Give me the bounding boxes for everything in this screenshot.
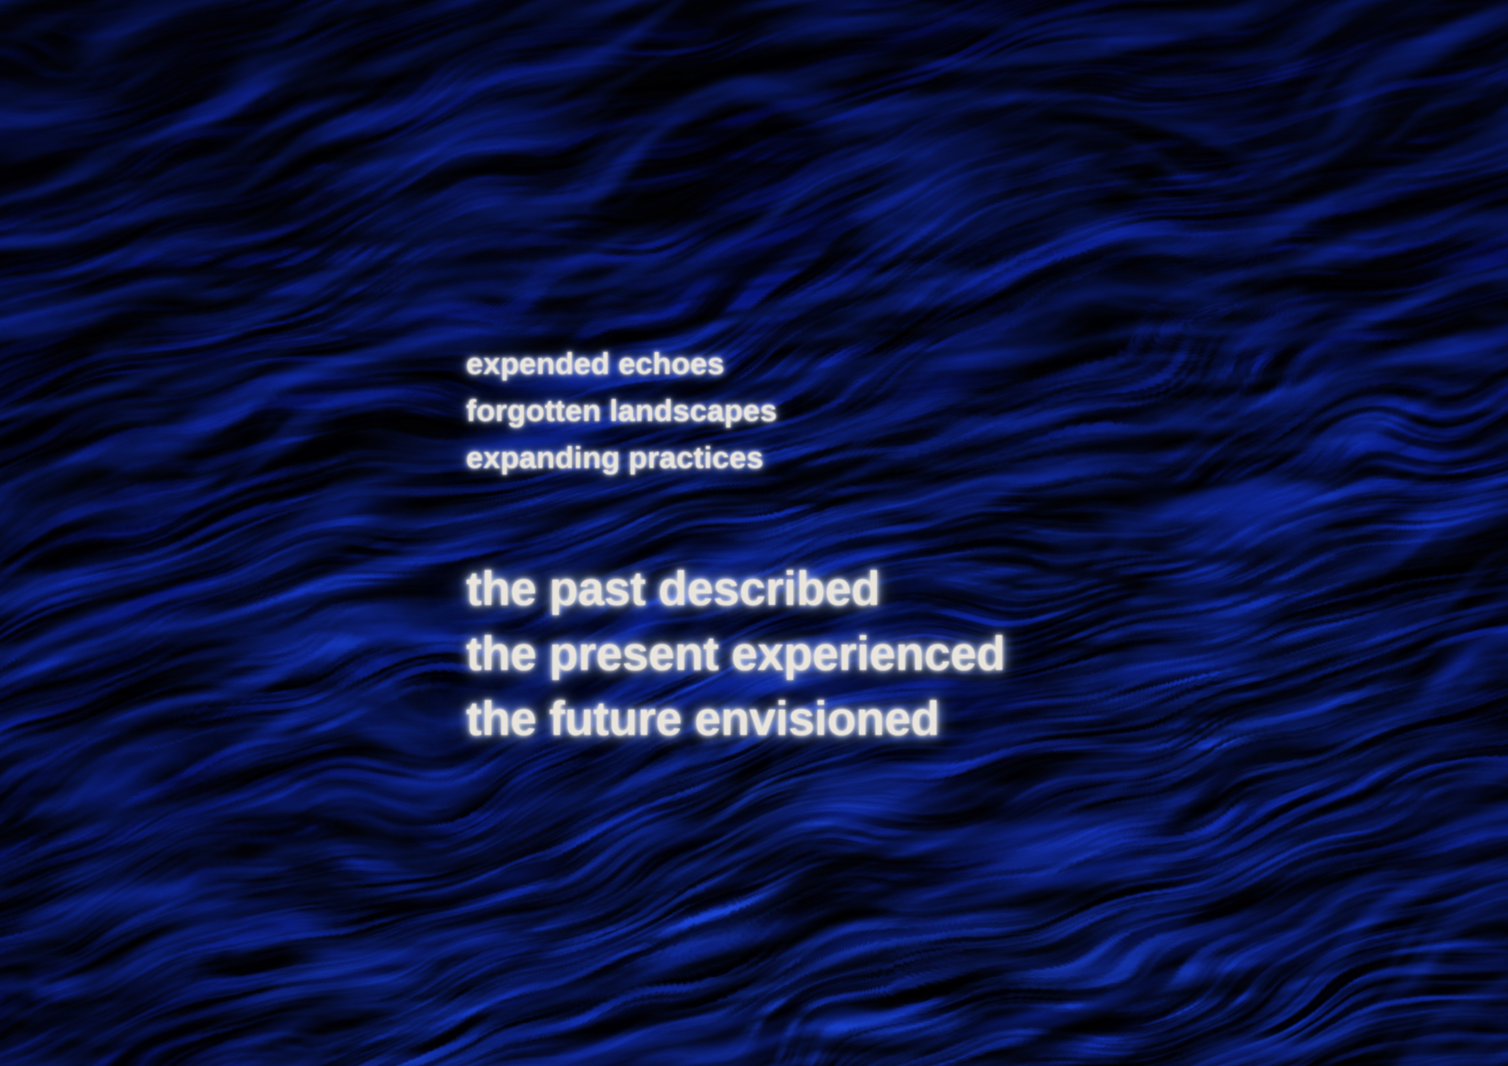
poster-text: expended echoes forgotten landscapes exp…: [466, 340, 1286, 752]
text-block-large: the past described the present experienc…: [466, 557, 1286, 752]
text-line-the-future-envisioned: the future envisioned: [466, 687, 1286, 752]
text-line-expended-echoes: expended echoes: [466, 340, 1286, 387]
text-line-the-past-described: the past described: [466, 557, 1286, 622]
poster-canvas: expended echoes forgotten landscapes exp…: [0, 0, 1508, 1066]
text-line-forgotten-landscapes: forgotten landscapes: [466, 387, 1286, 434]
text-line-the-present-experienced: the present experienced: [466, 622, 1286, 687]
text-block-small: expended echoes forgotten landscapes exp…: [466, 340, 1286, 481]
text-line-expanding-practices: expanding practices: [466, 434, 1286, 481]
